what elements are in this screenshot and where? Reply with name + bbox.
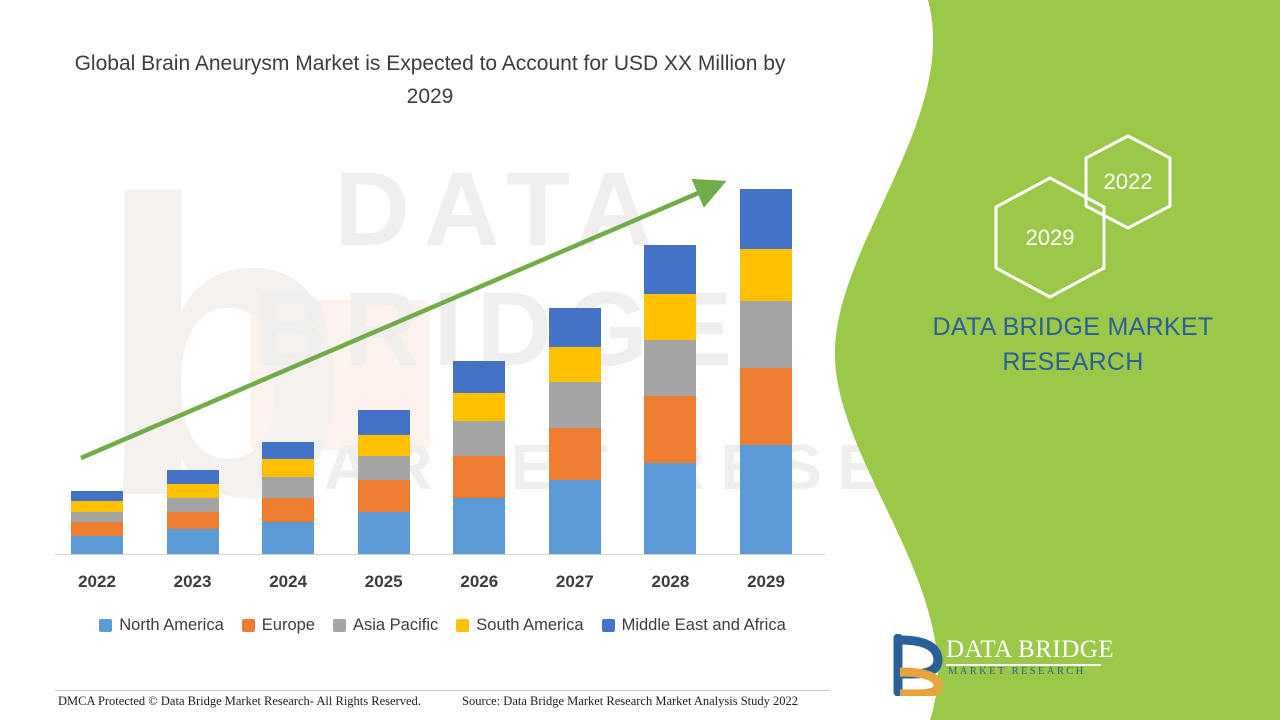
bar-segment bbox=[71, 512, 123, 523]
bar-group-2024 bbox=[262, 442, 314, 554]
bar-segment bbox=[358, 512, 410, 554]
bar-segment bbox=[549, 428, 601, 481]
x-axis-label-2023: 2023 bbox=[153, 572, 233, 592]
legend-label: Asia Pacific bbox=[353, 616, 438, 635]
bar-segment bbox=[262, 498, 314, 523]
legend-item[interactable]: Asia Pacific bbox=[333, 616, 438, 635]
bar-group-2027 bbox=[549, 308, 601, 554]
x-axis-labels: 20222023202420252026202720282029 bbox=[55, 572, 825, 598]
bar-segment bbox=[358, 480, 410, 512]
bar-group-2022 bbox=[71, 491, 123, 554]
x-axis-label-2022: 2022 bbox=[57, 572, 137, 592]
company-logo: DATA BRIDGE MARKET RESEARCH bbox=[888, 634, 1118, 700]
bar-segment bbox=[740, 189, 792, 249]
bar-segment bbox=[453, 393, 505, 421]
bar-segment bbox=[71, 522, 123, 536]
legend-label: Middle East and Africa bbox=[622, 616, 786, 635]
legend-label: North America bbox=[119, 616, 224, 635]
x-axis-label-2029: 2029 bbox=[726, 572, 806, 592]
bar-segment bbox=[549, 382, 601, 428]
x-axis-label-2028: 2028 bbox=[630, 572, 710, 592]
footer-copyright: DMCA Protected © Data Bridge Market Rese… bbox=[58, 694, 421, 709]
bar-segment bbox=[262, 522, 314, 554]
chart-legend: North AmericaEuropeAsia PacificSouth Ame… bbox=[55, 616, 830, 635]
hexagon-2022-label: 2022 bbox=[1082, 169, 1174, 195]
legend-item[interactable]: Middle East and Africa bbox=[602, 616, 786, 635]
bar-segment bbox=[644, 340, 696, 396]
bar-group-2029 bbox=[740, 189, 792, 554]
bars-container bbox=[55, 170, 825, 555]
chart-plot-area bbox=[55, 170, 825, 560]
bar-segment bbox=[358, 435, 410, 456]
logo-title: DATA BRIDGE bbox=[946, 636, 1114, 664]
bar-segment bbox=[549, 308, 601, 347]
x-axis-label-2027: 2027 bbox=[535, 572, 615, 592]
brand-name: DATA BRIDGE MARKET RESEARCH bbox=[908, 310, 1238, 380]
logo-tagline: MARKET RESEARCH bbox=[948, 666, 1086, 677]
x-axis-label-2026: 2026 bbox=[439, 572, 519, 592]
x-axis-label-2025: 2025 bbox=[344, 572, 424, 592]
bar-segment bbox=[740, 249, 792, 302]
hexagon-2022: 2022 bbox=[1082, 133, 1174, 231]
bar-segment bbox=[453, 456, 505, 498]
chart-title: Global Brain Aneurysm Market is Expected… bbox=[60, 48, 800, 113]
legend-item[interactable]: Europe bbox=[242, 616, 315, 635]
bar-segment bbox=[453, 498, 505, 554]
legend-label: South America bbox=[476, 616, 583, 635]
bar-segment bbox=[262, 477, 314, 498]
bar-segment bbox=[740, 368, 792, 445]
bar-segment bbox=[644, 463, 696, 554]
bar-segment bbox=[740, 301, 792, 368]
bar-segment bbox=[167, 529, 219, 554]
chart-infographic: b DATA BRIDGE MARKET RESEARCH Global Bra… bbox=[0, 0, 1280, 720]
legend-swatch-icon bbox=[99, 619, 112, 632]
bar-segment bbox=[167, 498, 219, 512]
bar-segment bbox=[71, 536, 123, 554]
bar-segment bbox=[262, 442, 314, 460]
logo-mark-icon bbox=[888, 634, 944, 696]
bar-group-2026 bbox=[453, 361, 505, 554]
x-axis-line bbox=[55, 554, 825, 555]
bar-segment bbox=[167, 470, 219, 484]
bar-group-2025 bbox=[358, 410, 410, 554]
legend-swatch-icon bbox=[602, 619, 615, 632]
footer-divider bbox=[55, 690, 830, 691]
legend-swatch-icon bbox=[333, 619, 346, 632]
bar-segment bbox=[740, 445, 792, 554]
bar-segment bbox=[644, 294, 696, 340]
legend-label: Europe bbox=[262, 616, 315, 635]
bar-segment bbox=[167, 512, 219, 530]
bar-segment bbox=[262, 459, 314, 477]
bar-segment bbox=[167, 484, 219, 498]
bar-segment bbox=[453, 421, 505, 456]
legend-item[interactable]: North America bbox=[99, 616, 224, 635]
bar-segment bbox=[453, 361, 505, 393]
legend-swatch-icon bbox=[242, 619, 255, 632]
legend-item[interactable]: South America bbox=[456, 616, 583, 635]
x-axis-label-2024: 2024 bbox=[248, 572, 328, 592]
bar-segment bbox=[549, 480, 601, 554]
footer-source: Source: Data Bridge Market Research Mark… bbox=[462, 694, 798, 709]
bar-segment bbox=[71, 501, 123, 512]
bar-segment bbox=[71, 491, 123, 502]
bar-group-2023 bbox=[167, 470, 219, 554]
bar-segment bbox=[358, 410, 410, 435]
bar-group-2028 bbox=[644, 245, 696, 554]
bar-segment bbox=[644, 245, 696, 294]
bar-segment bbox=[358, 456, 410, 481]
bar-segment bbox=[549, 347, 601, 382]
legend-swatch-icon bbox=[456, 619, 469, 632]
bar-segment bbox=[644, 396, 696, 463]
